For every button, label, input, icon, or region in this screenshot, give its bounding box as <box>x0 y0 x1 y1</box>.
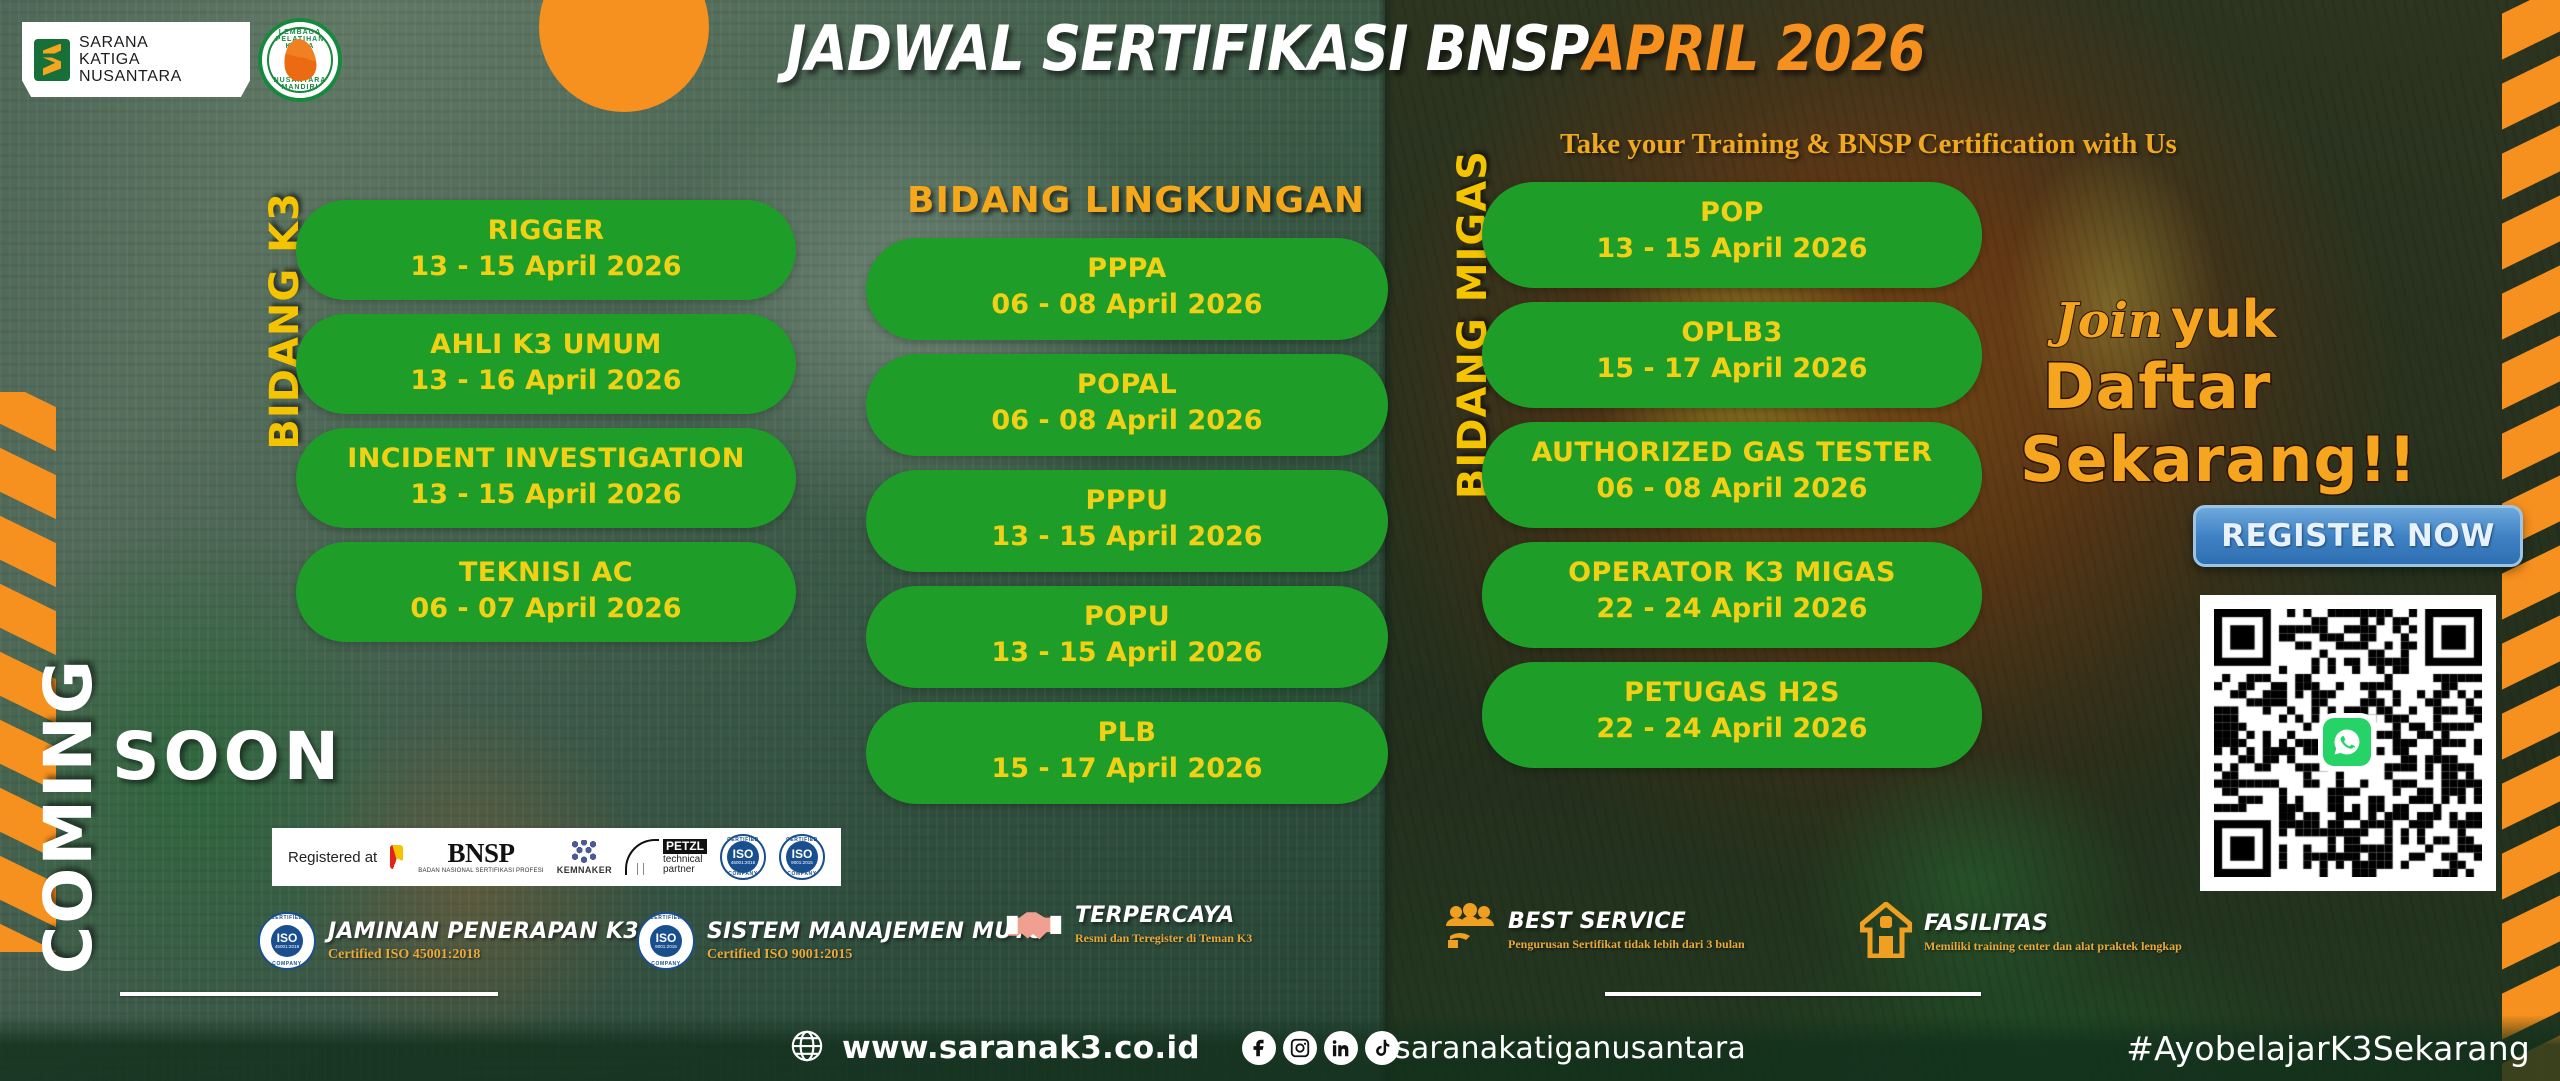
schedule-column-lingkungan: PPPA06 - 08 April 2026POPAL06 - 08 April… <box>866 238 1388 818</box>
iso-ring-f2: CERTIFIED COMPANY <box>639 914 693 968</box>
schedule-pill[interactable]: POP13 - 15 April 2026 <box>1482 182 1982 288</box>
feature-text-block: TERPERCAYA Resmi dan Teregister di Teman… <box>1075 903 1252 946</box>
feature-title: SISTEM MANAJEMEN MUTU <box>707 919 1046 944</box>
kemnaker-label: KEMNAKER <box>557 866 612 875</box>
home-icon <box>1860 902 1912 963</box>
schedule-name: AUTHORIZED GAS TESTER <box>1498 435 1966 471</box>
schedule-name: PPPU <box>882 483 1372 519</box>
schedule-pill[interactable]: AHLI K3 UMUM13 - 16 April 2026 <box>296 314 796 414</box>
schedule-date: 13 - 16 April 2026 <box>312 363 780 399</box>
schedule-name: RIGGER <box>312 213 780 249</box>
footer-bar: www.saranak3.co.id saranakatiganusantara… <box>0 1015 2560 1081</box>
divider-right <box>1605 992 1981 996</box>
schedule-pill[interactable]: RIGGER13 - 15 April 2026 <box>296 200 796 300</box>
iso-45001-badge-icon: CERTIFIED COMPANY ISO 45001:2018 <box>720 834 766 880</box>
daftar-text: Daftar <box>2043 350 2271 423</box>
bnsp-name: BNSP <box>448 840 515 867</box>
divider-left <box>120 992 498 996</box>
iso-ring-top-f1: CERTIFIED <box>260 915 314 921</box>
logo-mark-icon <box>34 39 70 81</box>
schedule-name: POPAL <box>882 367 1372 403</box>
register-button-label: REGISTER NOW <box>2221 518 2495 554</box>
certification-strip: Registered at BNSP BADAN NASIONAL SERTIF… <box>272 828 841 886</box>
globe-icon <box>790 1029 824 1068</box>
page-title: JADWAL SERTIFIKASI BNSPAPRIL 2026 <box>786 12 1925 85</box>
column-label-bidang-lingkungan: BIDANG LINGKUNGAN <box>886 180 1386 221</box>
schedule-pill[interactable]: PPPU13 - 15 April 2026 <box>866 470 1388 572</box>
feature-subtitle: Resmi dan Teregister di Teman K3 <box>1075 931 1252 946</box>
sekarang-text: Sekarang!! <box>2020 423 2417 496</box>
coming-text: COMING <box>30 658 107 974</box>
hashtag: #AyobelajarK3Sekarang <box>2126 1029 2530 1068</box>
schedule-pill[interactable]: AUTHORIZED GAS TESTER06 - 08 April 2026 <box>1482 422 1982 528</box>
petzl-line-2: partner <box>663 865 707 876</box>
feature-text-block: BEST SERVICE Pengurusan Sertifikat tidak… <box>1508 909 1745 952</box>
tiktok-icon[interactable] <box>1365 1031 1399 1065</box>
iso-ring-bottom-2: COMPANY <box>781 871 823 877</box>
schedule-date: 13 - 15 April 2026 <box>1498 231 1966 267</box>
footer-website-group[interactable]: www.saranak3.co.id <box>790 1029 1200 1068</box>
schedule-name: PPPA <box>882 251 1372 287</box>
schedule-date: 22 - 24 April 2026 <box>1498 711 1966 747</box>
kemnaker-logo: KEMNAKER <box>557 840 612 875</box>
schedule-name: INCIDENT INVESTIGATION <box>312 441 780 477</box>
schedule-name: POP <box>1498 195 1966 231</box>
feature-sistem-manajemen-mutu: CERTIFIED COMPANY ISO 9001:2015 SISTEM M… <box>637 912 1046 970</box>
iso-ring-top-f2: CERTIFIED <box>639 915 693 921</box>
social-icons <box>1242 1031 1399 1065</box>
schedule-name: OPLB3 <box>1498 315 1966 351</box>
iso-ring-f1: CERTIFIED COMPANY <box>260 914 314 968</box>
feature-fasilitas: FASILITAS Memiliki training center dan a… <box>1860 902 2182 963</box>
iso-badge-icon: CERTIFIED COMPANY ISO 9001:2015 <box>637 912 695 970</box>
feature-best-service: BEST SERVICE Pengurusan Sertifikat tidak… <box>1444 902 1745 959</box>
title-white: JADWAL SERTIFIKASI BNSP <box>786 12 1584 85</box>
schedule-pill[interactable]: POPU13 - 15 April 2026 <box>866 586 1388 688</box>
bnsp-logo-icon <box>390 845 403 869</box>
subtitle: Take your Training & BNSP Certification … <box>1560 128 2177 161</box>
feature-text-block: SISTEM MANAJEMEN MUTU Certified ISO 9001… <box>707 919 1046 963</box>
title-orange: APRIL 2026 <box>1584 12 1925 85</box>
kemnaker-dots-icon <box>569 840 599 864</box>
website-url: www.saranak3.co.id <box>842 1030 1200 1066</box>
schedule-column-migas: POP13 - 15 April 2026OPLB315 - 17 April … <box>1482 182 1982 782</box>
decorative-circle-small <box>604 18 676 90</box>
schedule-pill[interactable]: OPERATOR K3 MIGAS22 - 24 April 2026 <box>1482 542 1982 648</box>
schedule-column-k3: RIGGER13 - 15 April 2026AHLI K3 UMUM13 -… <box>296 200 796 656</box>
feature-jaminan-penerapan-k3: CERTIFIED COMPANY ISO 45001:2018 JAMINAN… <box>258 912 639 970</box>
schedule-date: 13 - 15 April 2026 <box>312 477 780 513</box>
schedule-pill[interactable]: INCIDENT INVESTIGATION13 - 15 April 2026 <box>296 428 796 528</box>
linkedin-icon[interactable] <box>1324 1031 1358 1065</box>
iso-ring-2: CERTIFIED COMPANY <box>781 836 823 878</box>
schedule-name: PLB <box>882 715 1372 751</box>
promo-poster: SARANA KATIGA NUSANTARA LEMBAGA PELATIHA… <box>0 0 2560 1081</box>
feature-title: JAMINAN PENERAPAN K3 <box>328 919 639 944</box>
feature-subtitle: Memiliki training center dan alat prakte… <box>1924 939 2182 954</box>
feature-text-block: JAMINAN PENERAPAN K3 Certified ISO 45001… <box>328 919 639 963</box>
schedule-pill[interactable]: PETUGAS H2S22 - 24 April 2026 <box>1482 662 1982 768</box>
iso-9001-badge-icon: CERTIFIED COMPANY ISO 9001:2015 <box>779 834 825 880</box>
schedule-date: 06 - 08 April 2026 <box>1498 471 1966 507</box>
iso-ring-top-2: CERTIFIED <box>781 837 823 843</box>
feature-subtitle: Certified ISO 9001:2015 <box>707 947 1046 963</box>
petzl-logo: PETZL technical partner <box>625 838 707 876</box>
registered-at-label: Registered at <box>288 849 377 866</box>
schedule-name: POPU <box>882 599 1372 635</box>
schedule-pill[interactable]: TEKNISI AC06 - 07 April 2026 <box>296 542 796 642</box>
schedule-date: 13 - 15 April 2026 <box>312 249 780 285</box>
logo-text: SARANA KATIGA NUSANTARA <box>79 34 182 85</box>
schedule-pill[interactable]: POPAL06 - 08 April 2026 <box>866 354 1388 456</box>
iso-ring-bottom-1: COMPANY <box>722 871 764 877</box>
schedule-name: AHLI K3 UMUM <box>312 327 780 363</box>
bnsp-logo: BNSP BADAN NASIONAL SERTIFIKASI PROFESI <box>418 840 544 874</box>
logo-line-1: SARANA <box>79 34 182 51</box>
schedule-name: OPERATOR K3 MIGAS <box>1498 555 1966 591</box>
schedule-date: 22 - 24 April 2026 <box>1498 591 1966 627</box>
instagram-icon[interactable] <box>1283 1031 1317 1065</box>
schedule-name: TEKNISI AC <box>312 555 780 591</box>
schedule-pill[interactable]: PPPA06 - 08 April 2026 <box>866 238 1388 340</box>
logo-line-2: KATIGA <box>79 51 182 68</box>
schedule-pill[interactable]: OPLB315 - 17 April 2026 <box>1482 302 1982 408</box>
company-logo: SARANA KATIGA NUSANTARA <box>22 22 250 97</box>
schedule-date: 13 - 15 April 2026 <box>882 635 1372 671</box>
feature-subtitle: Certified ISO 45001:2018 <box>328 947 639 963</box>
join-script-text: Join <box>2055 293 2163 349</box>
schedule-date: 15 - 17 April 2026 <box>1498 351 1966 387</box>
schedule-pill[interactable]: PLB15 - 17 April 2026 <box>866 702 1388 804</box>
schedule-date: 15 - 17 April 2026 <box>882 751 1372 787</box>
feature-title: FASILITAS <box>1924 911 2182 936</box>
logo-line-3: NUSANTARA <box>79 68 182 85</box>
users-icon <box>1444 902 1496 959</box>
feature-terpercaya: TERPERCAYA Resmi dan Teregister di Teman… <box>1005 902 1252 946</box>
feature-title: TERPERCAYA <box>1075 903 1252 928</box>
whatsapp-icon <box>2323 718 2371 766</box>
feature-title: BEST SERVICE <box>1508 909 1745 934</box>
join-headline: Joinyuk <box>2055 290 2276 350</box>
iso-ring-top-1: CERTIFIED <box>722 837 764 843</box>
petzl-text: PETZL technical partner <box>663 838 707 876</box>
register-now-button[interactable]: REGISTER NOW <box>2193 505 2523 567</box>
iso-badge-icon: CERTIFIED COMPANY ISO 45001:2018 <box>258 912 316 970</box>
soon-text: SOON <box>112 718 343 795</box>
petzl-brand: PETZL <box>663 839 707 854</box>
feature-subtitle: Pengurusan Sertifikat tidak lebih dari 3… <box>1508 937 1745 952</box>
facebook-icon[interactable] <box>1242 1031 1276 1065</box>
join-yuk-text: yuk <box>2171 290 2277 350</box>
schedule-date: 06 - 08 April 2026 <box>882 287 1372 323</box>
petzl-arc-icon <box>625 839 659 875</box>
schedule-date: 13 - 15 April 2026 <box>882 519 1372 555</box>
schedule-date: 06 - 07 April 2026 <box>312 591 780 627</box>
iso-ring-bottom-f1: COMPANY <box>260 961 314 967</box>
social-handle: saranakatiganusantara <box>1395 1031 1746 1066</box>
iso-ring-bottom-f2: COMPANY <box>639 961 693 967</box>
iso-ring-1: CERTIFIED COMPANY <box>722 836 764 878</box>
schedule-date: 06 - 08 April 2026 <box>882 403 1372 439</box>
bnsp-subtitle: BADAN NASIONAL SERTIFIKASI PROFESI <box>418 868 544 874</box>
feature-text-block: FASILITAS Memiliki training center dan a… <box>1924 911 2182 954</box>
handshake-icon <box>1005 902 1063 946</box>
schedule-name: PETUGAS H2S <box>1498 675 1966 711</box>
lpk-seal-logo: LEMBAGA PELATIHAN KERJA NUSANTARA MANDIR… <box>258 18 342 102</box>
